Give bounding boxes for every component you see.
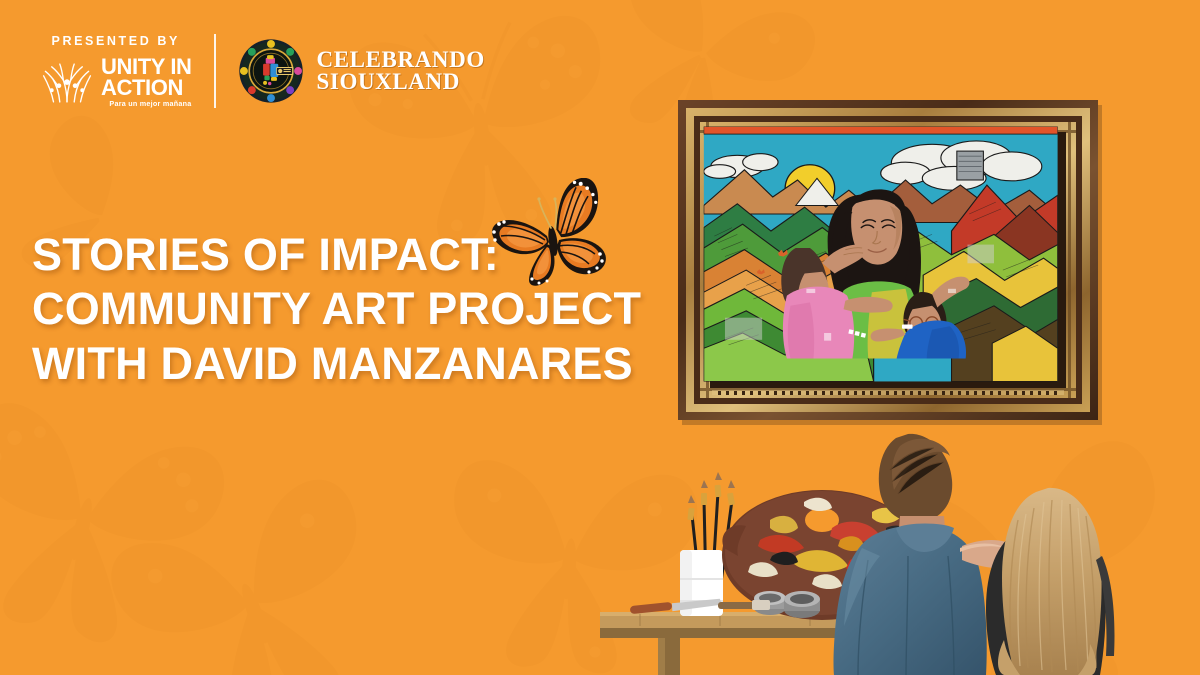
mural-mother-embracing-two-children	[704, 126, 1058, 381]
unity-in-action-line2: ACTION	[101, 78, 192, 98]
unity-in-action-logo: UNITY IN ACTION Para un mejor mañana	[40, 57, 192, 108]
celebrando-siouxland-emblem-icon	[238, 38, 304, 104]
flat-brush-icon	[718, 600, 770, 610]
unity-in-action-tagline: Para un mejor mañana	[101, 101, 192, 108]
woman-back-view	[986, 488, 1115, 675]
gallery-scene	[600, 0, 1200, 675]
celebrando-siouxland-wordmark: CELEBRANDO SIOUXLAND	[317, 49, 485, 93]
unity-in-action-wordmark: UNITY IN ACTION Para un mejor mañana	[101, 57, 192, 108]
monarch-butterfly-icon	[487, 178, 619, 288]
event-poster: PRESENTED BY	[0, 0, 1200, 675]
unity-in-action-people-icon	[40, 60, 94, 106]
presented-by-label: PRESENTED BY	[52, 34, 180, 48]
headline-line-2: COMMUNITY ART PROJECT	[32, 282, 641, 336]
celebrando-line1: CELEBRANDO	[317, 49, 485, 71]
presenter-logo-block: PRESENTED BY	[40, 34, 192, 108]
celebrando-siouxland-logo: CELEBRANDO SIOUXLAND	[238, 38, 485, 104]
celebrando-line2: SIOUXLAND	[317, 71, 485, 93]
poster-header: PRESENTED BY	[40, 34, 485, 108]
butterfly-watermark-icon	[65, 427, 436, 675]
vertical-divider	[214, 34, 216, 108]
headline-line-3: WITH DAVID MANZANARES	[32, 337, 641, 391]
